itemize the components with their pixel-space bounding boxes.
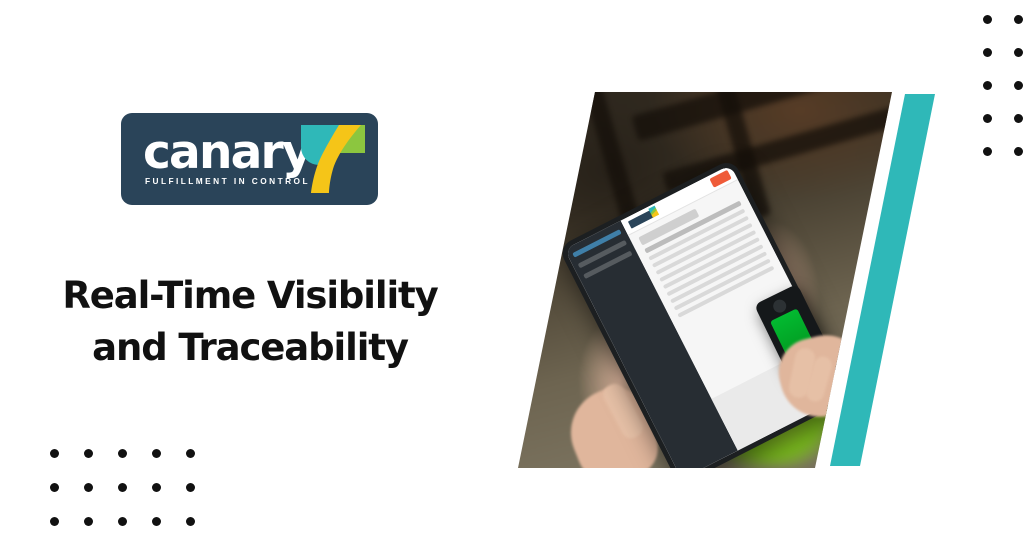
promo-banner: canary FULFILLMENT IN CONTROL Real-Time … bbox=[0, 0, 1024, 536]
dot bbox=[84, 517, 93, 526]
dot bbox=[152, 517, 161, 526]
dot bbox=[152, 483, 161, 492]
hero-visual bbox=[480, 60, 1024, 500]
dot bbox=[50, 449, 59, 458]
dot bbox=[50, 483, 59, 492]
canary7-seven-mark bbox=[299, 123, 367, 195]
dot bbox=[983, 15, 992, 24]
teal-accent-bar bbox=[480, 60, 1024, 500]
page-title: Real-Time Visibility and Traceability bbox=[0, 270, 500, 374]
logo-wordmark: canary bbox=[143, 129, 311, 176]
dot bbox=[84, 483, 93, 492]
dot bbox=[152, 449, 161, 458]
dot bbox=[50, 517, 59, 526]
dot bbox=[186, 483, 195, 492]
dot bbox=[186, 449, 195, 458]
dot bbox=[186, 517, 195, 526]
dot bbox=[118, 517, 127, 526]
dot bbox=[118, 449, 127, 458]
dot bbox=[1014, 48, 1023, 57]
canary7-logo-panel: canary FULFILLMENT IN CONTROL bbox=[121, 113, 378, 205]
dot bbox=[84, 449, 93, 458]
logo-tagline: FULFILLMENT IN CONTROL bbox=[145, 176, 310, 186]
headline-line-1: Real-Time Visibility bbox=[0, 270, 500, 322]
headline-line-2: and Traceability bbox=[0, 322, 500, 374]
dot bbox=[118, 483, 127, 492]
dot bbox=[983, 48, 992, 57]
dot bbox=[1014, 15, 1023, 24]
